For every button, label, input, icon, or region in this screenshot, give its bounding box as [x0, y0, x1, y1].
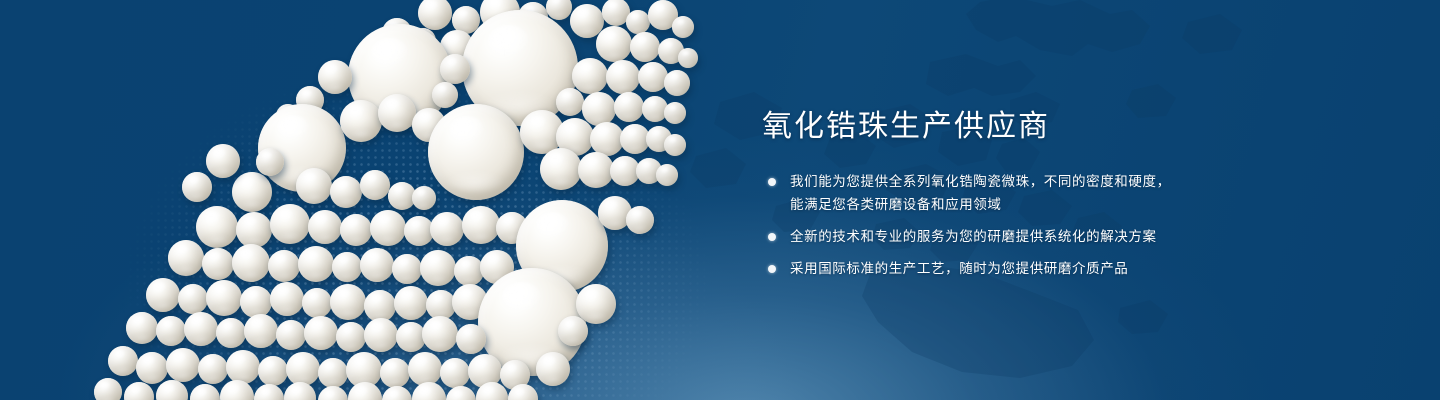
page-title: 氧化锆珠生产供应商 — [762, 110, 1050, 145]
list-item-line: 能满足您各类研磨设备和应用领域 — [790, 193, 1232, 216]
bullet-dot-icon — [768, 233, 776, 241]
list-item-line: 全新的技术和专业的服务为您的研磨提供系统化的解决方案 — [790, 225, 1232, 248]
list-item-line: 采用国际标准的生产工艺，随时为您提供研磨介质产品 — [790, 257, 1232, 280]
halftone-texture — [120, 0, 740, 400]
list-item: 采用国际标准的生产工艺，随时为您提供研磨介质产品 — [762, 257, 1232, 280]
list-item: 我们能为您提供全系列氧化锆陶瓷微珠，不同的密度和硬度， 能满足您各类研磨设备和应… — [762, 170, 1232, 216]
bullet-dot-icon — [768, 265, 776, 273]
hero-banner: 氧化锆珠生产供应商 我们能为您提供全系列氧化锆陶瓷微珠，不同的密度和硬度， 能满… — [0, 0, 1440, 400]
feature-list: 我们能为您提供全系列氧化锆陶瓷微珠，不同的密度和硬度， 能满足您各类研磨设备和应… — [762, 170, 1232, 280]
list-item: 全新的技术和专业的服务为您的研磨提供系统化的解决方案 — [762, 225, 1232, 248]
list-item-line: 我们能为您提供全系列氧化锆陶瓷微珠，不同的密度和硬度， — [790, 170, 1232, 193]
bullet-dot-icon — [768, 178, 776, 186]
zirconia-beads-image — [0, 0, 760, 400]
banner-text-block: 氧化锆珠生产供应商 我们能为您提供全系列氧化锆陶瓷微珠，不同的密度和硬度， 能满… — [762, 0, 1282, 400]
